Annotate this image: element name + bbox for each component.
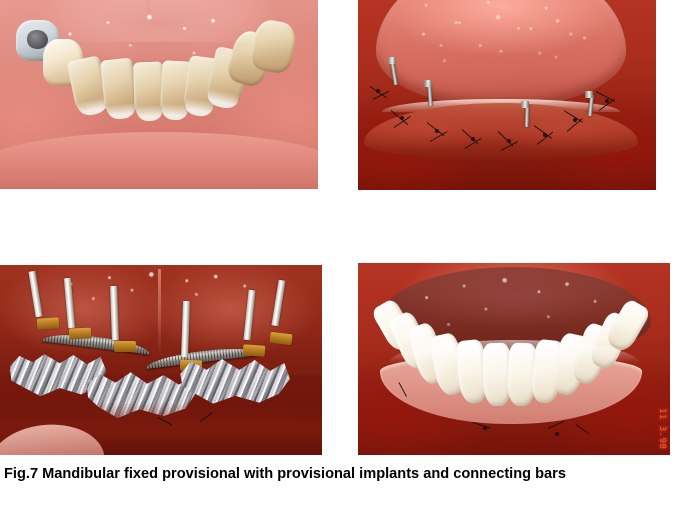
gold-coping-3: [114, 341, 136, 352]
clinical-photo-preop-dentition: [0, 0, 318, 189]
gingival-margin: [57, 42, 267, 99]
suture-knot: [483, 426, 487, 430]
clinical-photo-connecting-bar: [0, 265, 322, 455]
gold-coping-5: [243, 344, 266, 357]
camera-date-stamp: 11 3.98: [657, 408, 667, 449]
figure-plate: 11 3.98 Fig.7 Mandibular fixed provision…: [0, 0, 682, 511]
lower-lip: [0, 132, 318, 189]
gold-coping-1: [37, 317, 60, 330]
gold-coping-2: [69, 327, 91, 339]
figure-caption: Fig.7 Mandibular fixed provisional with …: [4, 464, 678, 484]
clinical-photo-sutured-flap: [358, 0, 656, 190]
clinical-photo-fixed-provisional: 11 3.98: [358, 263, 670, 455]
saliva-highlights: [358, 0, 656, 190]
suture-knot: [555, 432, 559, 436]
